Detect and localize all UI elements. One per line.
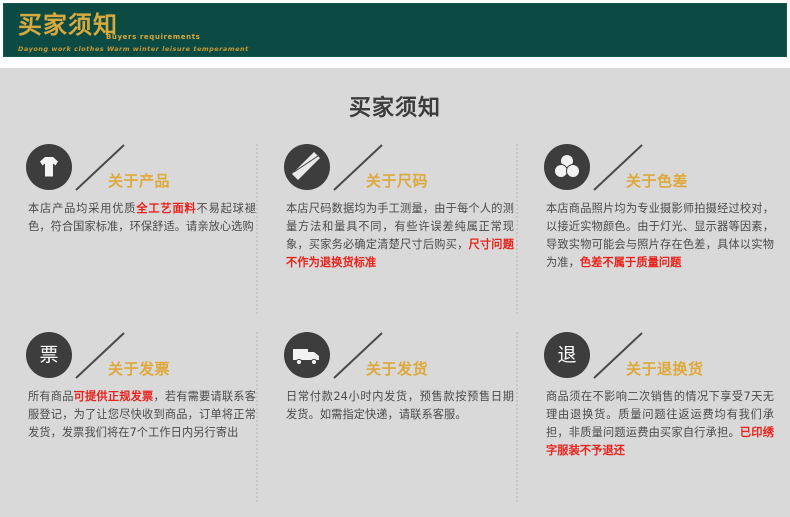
notice-card-product: 关于产品 本店产品均采用优质全工艺面料不易起球褪色，符合国家标准，环保舒适。请亲… — [24, 140, 260, 320]
body-text: 日常付款24小时内发货，预售款按预售日期发货。如需指定快递，请联系客服。 — [286, 390, 514, 421]
card-heading-product: 关于产品 — [108, 170, 170, 191]
highlighted-text: 全工艺面料 — [136, 202, 196, 215]
notice-card-shipping: 关于发货 日常付款24小时内发货，预售款按预售日期发货。如需指定快递，请联系客服… — [282, 328, 518, 508]
card-body-product: 本店产品均采用优质全工艺面料不易起球褪色，符合国家标准，环保舒适。请亲放心选购 — [28, 200, 256, 236]
page-title: 买家须知 — [0, 90, 790, 122]
invoice-icon-glyph: 票 — [26, 332, 72, 378]
notice-card-invoice: 票 关于发票 所有商品可提供正规发票，若有需要请联系客服登记，为了让您尽快收到商… — [24, 328, 260, 508]
card-heading-color-difference: 关于色差 — [626, 170, 688, 191]
three-circles-icon — [544, 144, 590, 190]
card-body-color-difference: 本店商品照片均为专业摄影师拍摄经过校对，以接近实物颜色。由于灯光、显示器等因素，… — [546, 200, 774, 273]
ruler-slash-icon — [284, 144, 330, 190]
card-body-returns: 商品须在不影响二次销售的情况下享受7天无理由退换货。质量问题往返运费均有我们承担… — [546, 388, 774, 461]
card-heading-invoice: 关于发票 — [108, 358, 170, 379]
card-heading-returns: 关于退换货 — [626, 358, 704, 379]
tshirt-icon — [26, 144, 72, 190]
body-text: 本店产品均采用优质 — [28, 202, 136, 215]
invoice-icon: 票 — [26, 332, 72, 378]
banner-subtitle-en: Dayong work clothes Warm winter leisure … — [18, 45, 249, 53]
return-icon-glyph: 退 — [544, 332, 590, 378]
card-body-shipping: 日常付款24小时内发货，预售款按预售日期发货。如需指定快递，请联系客服。 — [286, 388, 514, 424]
card-heading-shipping: 关于发货 — [366, 358, 428, 379]
card-body-size: 本店尺码数据均为手工测量，由于每个人的测量方法和量具不同，有些许误差纯属正常现象… — [286, 200, 514, 273]
content-area: 买家须知 关于产品 本店产品均采用优质全工艺面料不易起球褪色，符合国家标准，环保… — [0, 68, 790, 517]
card-body-invoice: 所有商品可提供正规发票，若有需要请联系客服登记，为了让您尽快收到商品，订单将正常… — [28, 388, 256, 442]
page-banner: 买家须知 Buyers requirements Dayong work clo… — [3, 3, 787, 57]
notice-card-grid: 关于产品 本店产品均采用优质全工艺面料不易起球褪色，符合国家标准，环保舒适。请亲… — [0, 140, 790, 510]
body-text: 所有商品 — [28, 390, 74, 403]
return-icon: 退 — [544, 332, 590, 378]
highlighted-text: 色差不属于质量问题 — [580, 256, 682, 269]
banner-title-en: Buyers requirements — [106, 33, 200, 41]
notice-card-returns: 退 关于退换货 商品须在不影响二次销售的情况下享受7天无理由退换货。质量问题往返… — [542, 328, 778, 508]
banner-title-cn: 买家须知 — [18, 13, 118, 37]
notice-card-size: 关于尺码 本店尺码数据均为手工测量，由于每个人的测量方法和量具不同，有些许误差纯… — [282, 140, 518, 320]
card-heading-size: 关于尺码 — [366, 170, 428, 191]
highlighted-text: 可提供正规发票 — [74, 390, 154, 403]
notice-card-color-difference: 关于色差 本店商品照片均为专业摄影师拍摄经过校对，以接近实物颜色。由于灯光、显示… — [542, 140, 778, 320]
truck-icon — [284, 332, 330, 378]
